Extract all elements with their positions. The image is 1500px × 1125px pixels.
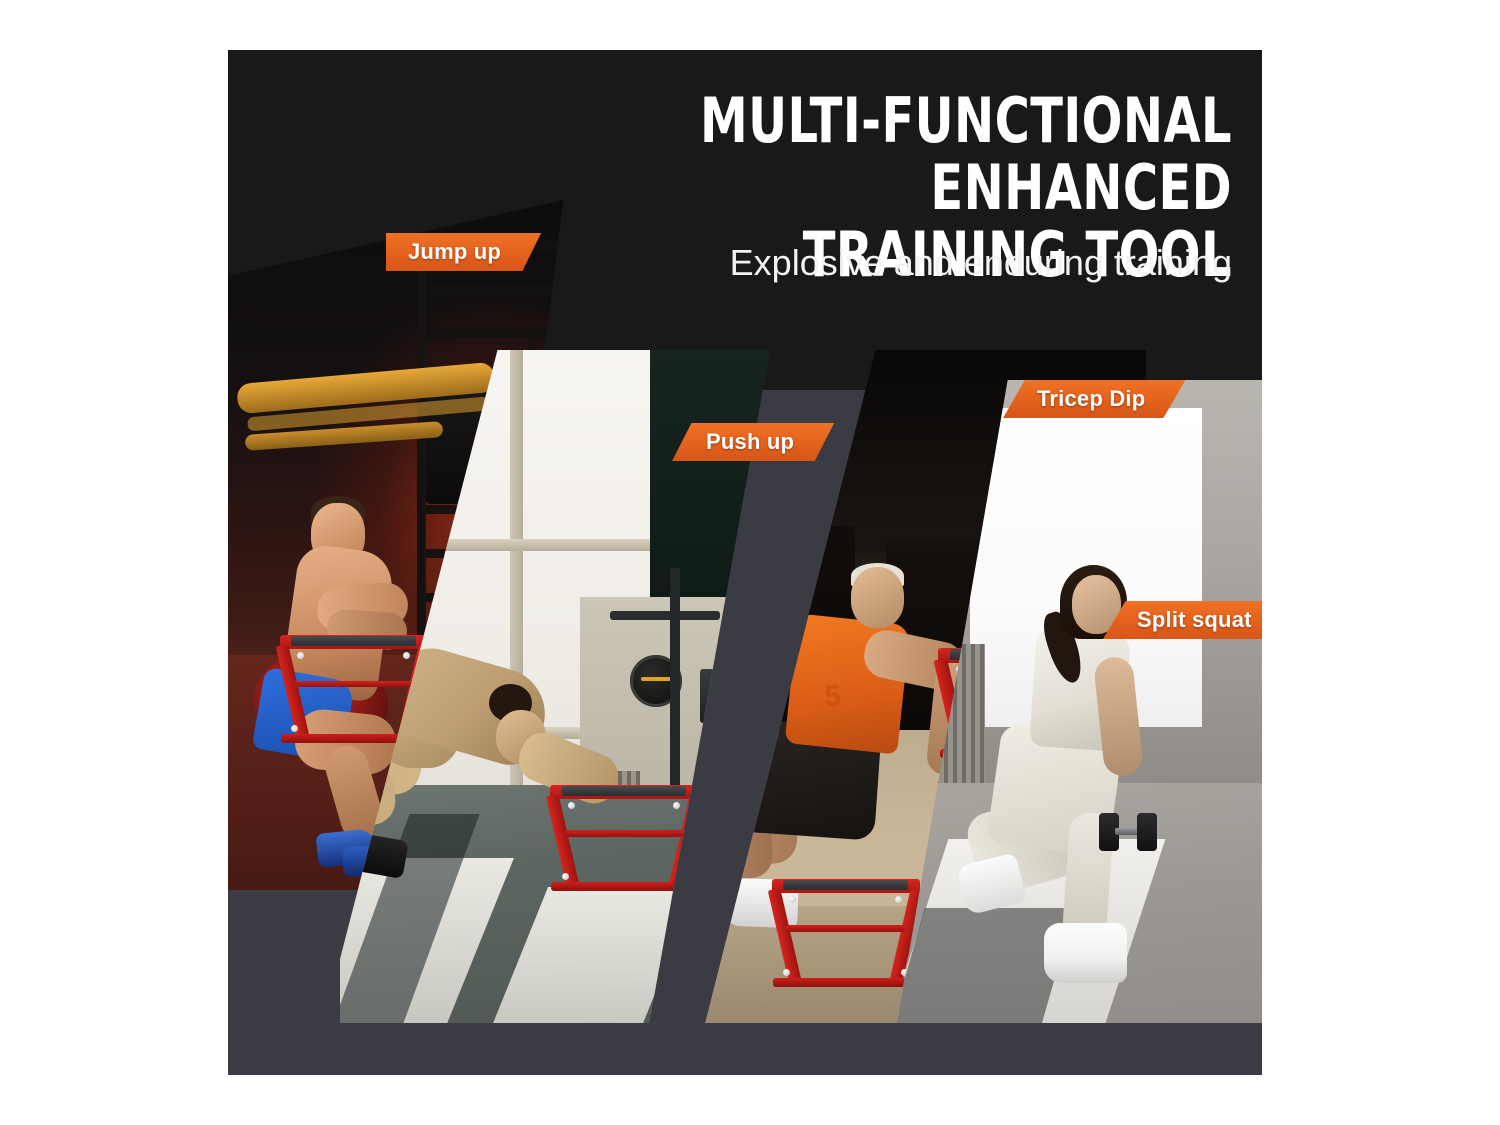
badge-jump-up: Jump up [386, 233, 541, 271]
plyo-box-rivet [789, 896, 796, 903]
plyo-box-cross-bar [294, 681, 412, 688]
tank-top-number: 5 [824, 680, 841, 714]
bottom-backdrop [228, 1023, 1262, 1075]
dumbbell [1099, 822, 1157, 842]
gym-rig-weight-stack [700, 669, 740, 723]
badge-push-up-label: Push up [706, 429, 794, 455]
product-infographic: 5 [228, 50, 1262, 1075]
plyo-box-base [773, 978, 918, 987]
athlete-shoe-front [1044, 923, 1127, 983]
dumbbell-head-right [1137, 813, 1157, 851]
plyo-box-rivet [673, 802, 680, 809]
badge-tricep-dip-label: Tricep Dip [1037, 386, 1145, 412]
badge-tricep-dip: Tricep Dip [1003, 380, 1185, 418]
badge-jump-up-label: Jump up [408, 239, 501, 265]
plyo-box-rivet [291, 725, 298, 732]
plyo-box-rivet [562, 873, 569, 880]
plyo-box-tricep-dip-secondary [772, 879, 920, 989]
plyo-box-leg-left [546, 796, 580, 885]
plyo-box-leg-right [669, 796, 703, 885]
plyo-box-rivet [679, 873, 686, 880]
athlete-shoe-rear [956, 852, 1027, 916]
plyo-box-cross-bar [565, 830, 683, 836]
plyo-box-leg-left [275, 646, 309, 736]
athlete-head [851, 567, 904, 628]
plyo-box-rivet [403, 652, 410, 659]
plyo-box-rivet [895, 896, 902, 903]
plyo-box-top-pad [562, 786, 686, 796]
badge-push-up: Push up [672, 423, 834, 461]
badge-split-squat: Split squat [1103, 601, 1262, 639]
plyo-box-push-up [550, 785, 698, 893]
plyo-box-rivet [568, 802, 575, 809]
plyo-box-leg-left [767, 890, 801, 980]
plyo-box-top-pad [783, 880, 907, 890]
plyo-box-rivet [297, 652, 304, 659]
plyo-box-cross-bar [786, 925, 904, 932]
gym-rig-arm [610, 611, 720, 620]
athlete-split-squat-woman [955, 575, 1232, 1034]
badge-split-squat-label: Split squat [1137, 607, 1252, 633]
plyo-box-base [551, 882, 696, 891]
plyo-box-top-pad [291, 636, 415, 646]
